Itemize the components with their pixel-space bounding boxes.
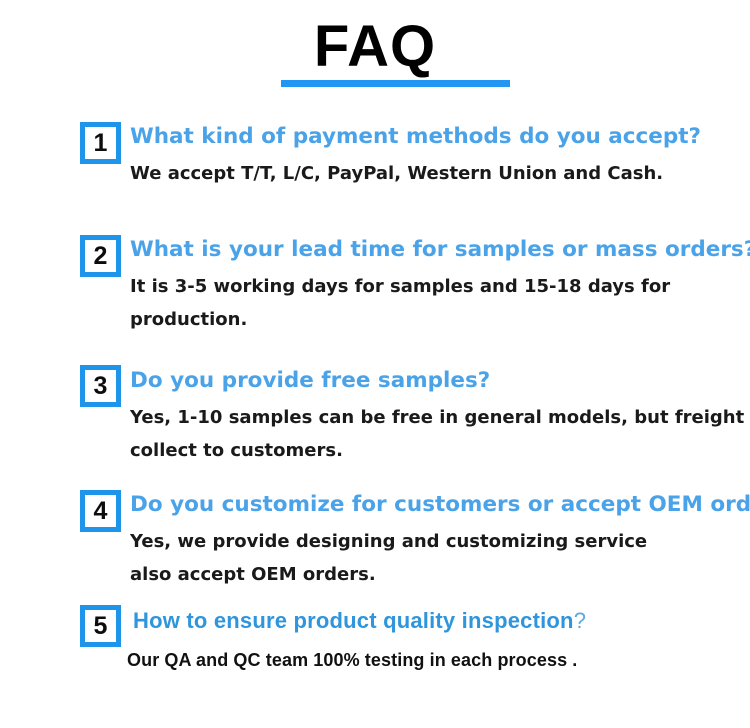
faq-content: Do you provide free samples? Yes, 1-10 s… xyxy=(130,367,745,467)
page-header: FAQ xyxy=(0,16,750,78)
faq-number-badge: 2 xyxy=(80,235,121,277)
faq-answer-line: collect to customers. xyxy=(130,434,745,467)
faq-number-badge: 1 xyxy=(80,122,121,164)
faq-answer: It is 3-5 working days for samples and 1… xyxy=(130,270,745,336)
faq-answer-line: production. xyxy=(130,303,745,336)
faq-number-badge: 3 xyxy=(80,365,121,407)
faq-answer: We accept T/T, L/C, PayPal, Western Unio… xyxy=(130,157,745,190)
faq-answer-suffix: 100% testing in each process . xyxy=(308,650,577,670)
faq-answer: Yes, we provide designing and customizin… xyxy=(130,525,745,591)
faq-question-text: How to ensure product quality inspection xyxy=(133,608,574,633)
faq-answer-line: We accept T/T, L/C, PayPal, Western Unio… xyxy=(130,157,745,190)
faq-answer-line: Yes, 1-10 samples can be free in general… xyxy=(130,401,745,434)
faq-answer-emphasis: team xyxy=(266,650,308,670)
faq-content: What kind of payment methods do you acce… xyxy=(130,123,745,190)
faq-question: What kind of payment methods do you acce… xyxy=(130,123,745,151)
page-title: FAQ xyxy=(0,16,750,78)
faq-answer-line: It is 3-5 working days for samples and 1… xyxy=(130,270,745,303)
faq-number-label: 2 xyxy=(94,244,108,269)
faq-content: What is your lead time for samples or ma… xyxy=(130,236,745,336)
faq-question: What is your lead time for samples or ma… xyxy=(130,236,745,264)
faq-content: How to ensure product quality inspection… xyxy=(133,607,748,677)
faq-question: Do you provide free samples? xyxy=(130,367,745,395)
faq-content: Do you customize for customers or accept… xyxy=(130,491,745,591)
faq-answer-prefix: Our QA and QC xyxy=(127,650,266,670)
faq-page: FAQ 1 What kind of payment methods do yo… xyxy=(0,0,750,728)
faq-question: Do you customize for customers or accept… xyxy=(130,491,745,519)
faq-answer: Our QA and QC team 100% testing in each … xyxy=(127,644,748,677)
faq-number-badge: 4 xyxy=(80,490,121,532)
faq-question-mark: ? xyxy=(574,608,586,633)
faq-answer-line: Our QA and QC team 100% testing in each … xyxy=(127,644,748,677)
faq-number-label: 3 xyxy=(94,374,108,399)
faq-number-label: 4 xyxy=(94,499,108,524)
title-underline-rule xyxy=(281,80,510,87)
faq-answer-line: Yes, we provide designing and customizin… xyxy=(130,525,745,558)
faq-answer-line: also accept OEM orders. xyxy=(130,558,745,591)
faq-number-badge: 5 xyxy=(80,605,121,647)
faq-number-label: 5 xyxy=(94,614,108,639)
faq-question: How to ensure product quality inspection… xyxy=(133,607,748,635)
faq-answer: Yes, 1-10 samples can be free in general… xyxy=(130,401,745,467)
faq-number-label: 1 xyxy=(94,131,108,156)
